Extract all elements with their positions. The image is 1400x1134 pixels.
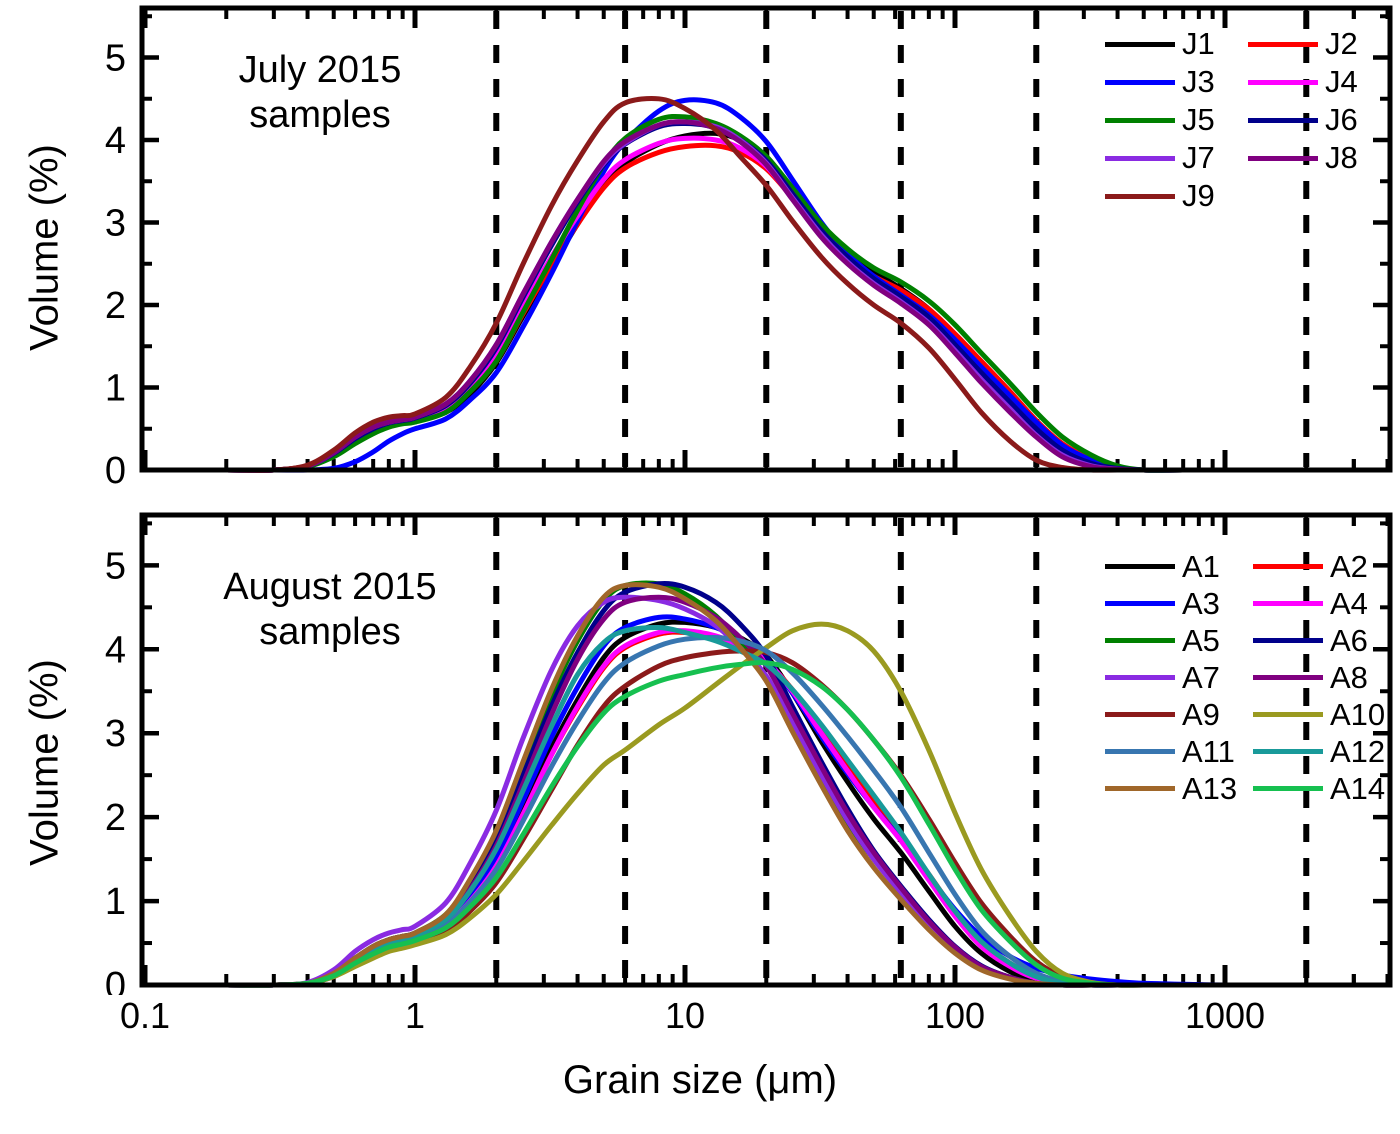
legend-swatch-J6 — [1248, 118, 1318, 123]
legend-item[interactable]: A3 — [1105, 586, 1253, 622]
legend-item[interactable]: J7 — [1105, 140, 1248, 176]
legend-label-J7: J7 — [1182, 140, 1215, 176]
legend-swatch-A7 — [1105, 675, 1175, 680]
legend-label-A13: A13 — [1182, 771, 1237, 807]
legend-swatch-A6 — [1253, 638, 1323, 643]
x-tick-label: 0.1 — [65, 995, 225, 1037]
legend-label-J2: J2 — [1325, 26, 1358, 62]
legend-label-A8: A8 — [1330, 660, 1368, 696]
legend-swatch-A3 — [1105, 601, 1175, 606]
x-tick-label: 1 — [335, 995, 495, 1037]
legend-item[interactable]: A10 — [1253, 697, 1400, 733]
legend-swatch-A13 — [1105, 786, 1175, 791]
x-tick-label: 100 — [875, 995, 1035, 1037]
legend-item[interactable]: J2 — [1248, 26, 1391, 62]
legend-swatch-J7 — [1105, 156, 1175, 161]
figure-root: Volume (%) Volume (%) 012345 July 2015 s… — [0, 0, 1400, 1134]
annotation-august: August 2015 samples — [175, 565, 485, 655]
legend-swatch-J3 — [1105, 80, 1175, 85]
y-tick-label: 2 — [105, 797, 126, 839]
legend-swatch-J5 — [1105, 118, 1175, 123]
legend-august: A1A2A3A4A5A6A7A8A9A10A11A12A13A14 — [1105, 548, 1400, 807]
legend-swatch-A1 — [1105, 564, 1175, 569]
legend-swatch-A11 — [1105, 749, 1175, 754]
legend-row: A9A10 — [1105, 696, 1400, 733]
legend-label-A14: A14 — [1330, 771, 1385, 807]
legend-row: A11A12 — [1105, 733, 1400, 770]
legend-row: J1J2 — [1105, 25, 1391, 63]
legend-item[interactable]: A1 — [1105, 549, 1253, 585]
legend-row: J9 — [1105, 177, 1391, 215]
legend-item[interactable]: A9 — [1105, 697, 1253, 733]
legend-label-J4: J4 — [1325, 64, 1358, 100]
legend-item[interactable]: A14 — [1253, 771, 1400, 807]
legend-label-A10: A10 — [1330, 697, 1385, 733]
legend-label-J6: J6 — [1325, 102, 1358, 138]
legend-item[interactable]: A2 — [1253, 549, 1400, 585]
legend-swatch-A4 — [1253, 601, 1323, 606]
legend-item[interactable]: A4 — [1253, 586, 1400, 622]
legend-label-J8: J8 — [1325, 140, 1358, 176]
y-tick-label: 3 — [105, 203, 126, 245]
y-tick-label: 1 — [105, 368, 126, 410]
legend-row: A5A6 — [1105, 622, 1400, 659]
legend-item[interactable]: A11 — [1105, 734, 1253, 770]
legend-item[interactable]: J9 — [1105, 178, 1248, 214]
legend-label-A4: A4 — [1330, 586, 1368, 622]
legend-label-J5: J5 — [1182, 102, 1215, 138]
legend-item[interactable]: J3 — [1105, 64, 1248, 100]
legend-label-A12: A12 — [1330, 734, 1385, 770]
annotation-july: July 2015 samples — [175, 48, 465, 138]
legend-row: A1A2 — [1105, 548, 1400, 585]
legend-swatch-A10 — [1253, 712, 1323, 717]
legend-item[interactable]: J1 — [1105, 26, 1248, 62]
legend-label-J1: J1 — [1182, 26, 1215, 62]
legend-swatch-J2 — [1248, 42, 1318, 47]
y-tick-label: 3 — [105, 713, 126, 755]
y-tick-label: 5 — [105, 38, 126, 80]
legend-swatch-A9 — [1105, 712, 1175, 717]
legend-label-A11: A11 — [1182, 734, 1235, 770]
legend-label-A6: A6 — [1330, 623, 1368, 659]
y-tick-label: 4 — [105, 120, 126, 162]
legend-item[interactable]: A5 — [1105, 623, 1253, 659]
legend-label-J3: J3 — [1182, 64, 1215, 100]
legend-swatch-A8 — [1253, 675, 1323, 680]
legend-swatch-A5 — [1105, 638, 1175, 643]
legend-row: J5J6 — [1105, 101, 1391, 139]
legend-label-A7: A7 — [1182, 660, 1220, 696]
legend-item[interactable]: A12 — [1253, 734, 1400, 770]
legend-item[interactable]: J4 — [1248, 64, 1391, 100]
legend-row: A3A4 — [1105, 585, 1400, 622]
legend-item[interactable]: A13 — [1105, 771, 1253, 807]
legend-item[interactable]: J8 — [1248, 140, 1391, 176]
legend-row: J3J4 — [1105, 63, 1391, 101]
legend-label-A3: A3 — [1182, 586, 1220, 622]
y-tick-label: 4 — [105, 629, 126, 671]
y-tick-label: 2 — [105, 285, 126, 327]
x-tick-label: 1000 — [1145, 995, 1305, 1037]
legend-swatch-J4 — [1248, 80, 1318, 85]
y-tick-label: 5 — [105, 545, 126, 587]
legend-label-A5: A5 — [1182, 623, 1220, 659]
x-axis-label: Grain size (μm) — [0, 1058, 1400, 1103]
legend-label-A9: A9 — [1182, 697, 1220, 733]
legend-item[interactable]: A8 — [1253, 660, 1400, 696]
legend-swatch-J1 — [1105, 42, 1175, 47]
y-tick-label: 1 — [105, 881, 126, 923]
legend-item[interactable]: A7 — [1105, 660, 1253, 696]
y-tick-label: 0 — [105, 450, 126, 492]
legend-label-A2: A2 — [1330, 549, 1368, 585]
legend-item[interactable]: J5 — [1105, 102, 1248, 138]
legend-row: J7J8 — [1105, 139, 1391, 177]
legend-july: J1J2J3J4J5J6J7J8J9 — [1105, 25, 1391, 215]
legend-row: A7A8 — [1105, 659, 1400, 696]
legend-swatch-A2 — [1253, 564, 1323, 569]
x-tick-label: 10 — [605, 995, 765, 1037]
legend-swatch-A12 — [1253, 749, 1323, 754]
legend-swatch-J8 — [1248, 156, 1318, 161]
y-tick-label: 0 — [105, 965, 126, 995]
legend-item[interactable]: A6 — [1253, 623, 1400, 659]
legend-label-J9: J9 — [1182, 178, 1215, 214]
legend-swatch-J9 — [1105, 194, 1175, 199]
legend-item[interactable]: J6 — [1248, 102, 1391, 138]
legend-swatch-A14 — [1253, 786, 1323, 791]
legend-label-A1: A1 — [1182, 549, 1220, 585]
legend-row: A13A14 — [1105, 770, 1400, 807]
